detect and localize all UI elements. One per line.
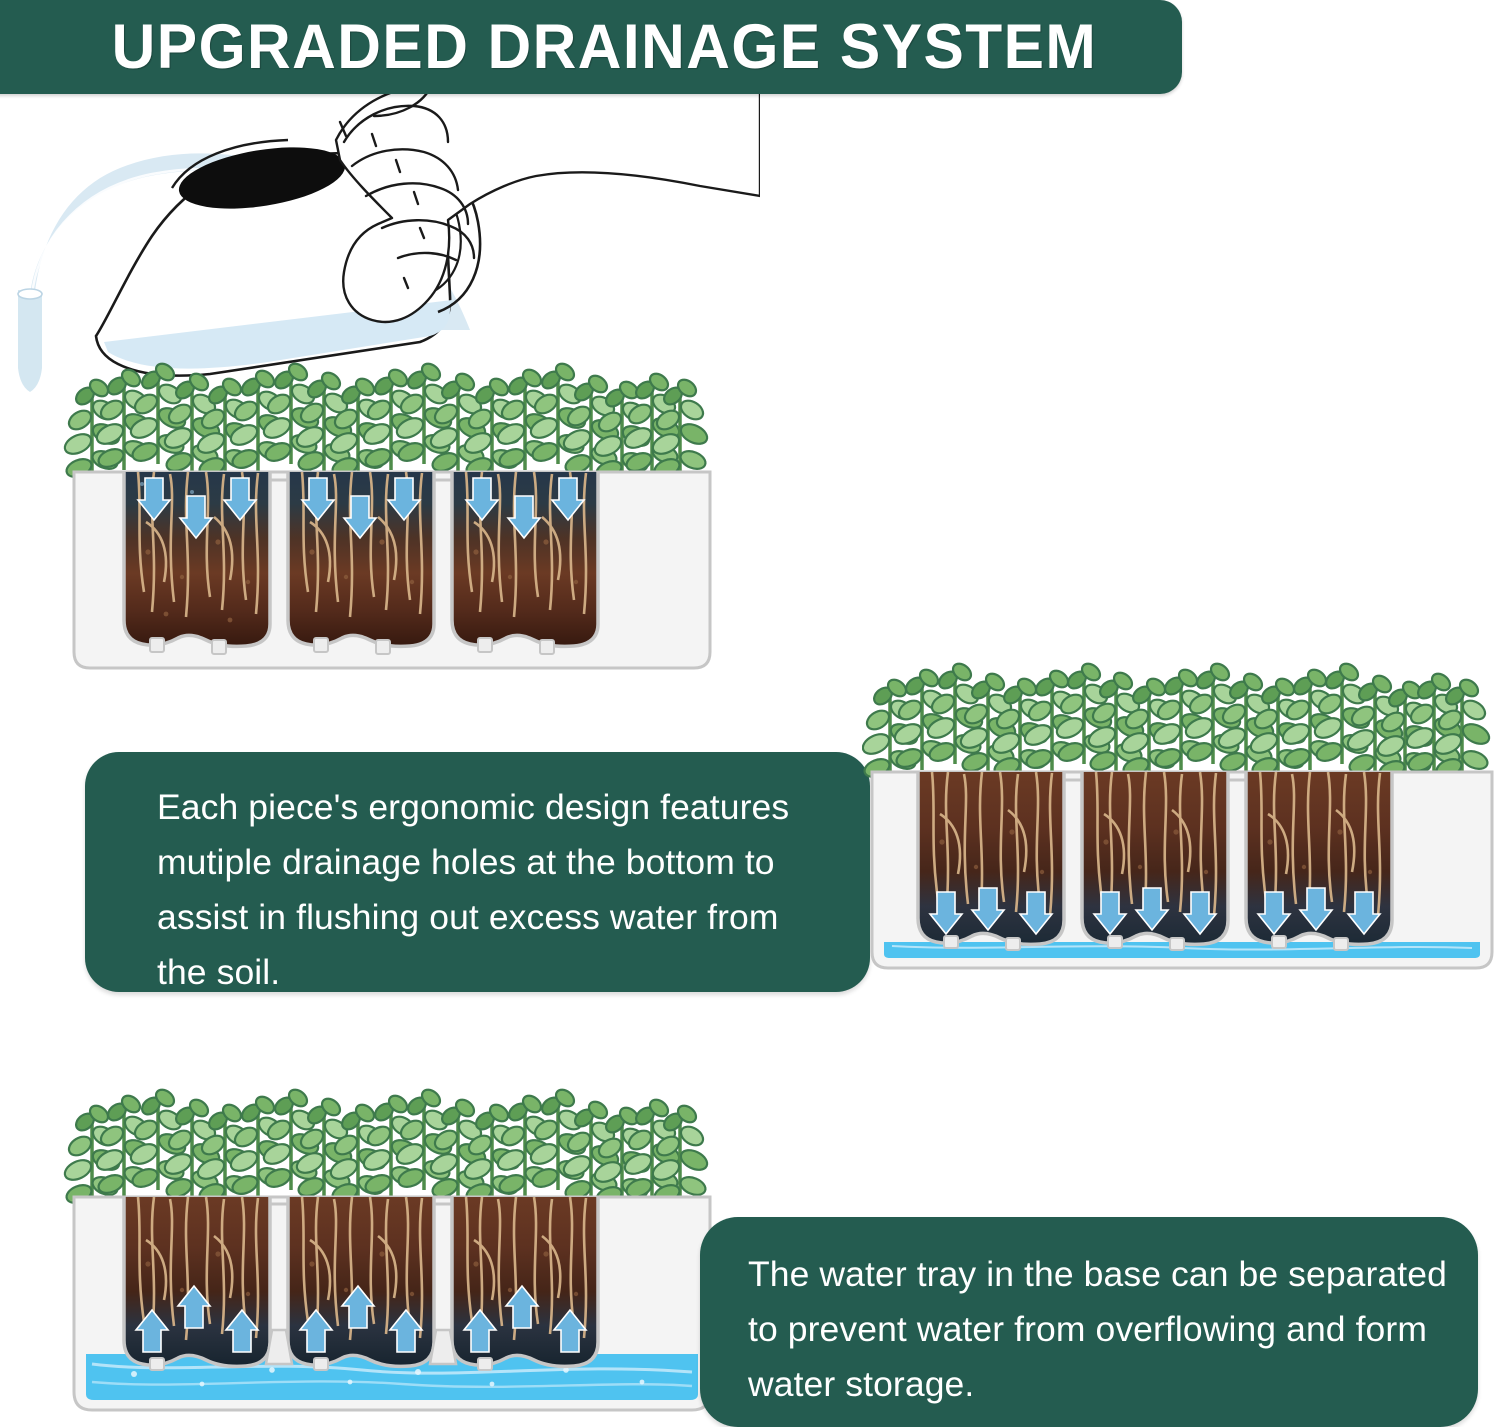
water-arrows-down xyxy=(930,888,1052,934)
water-arrows-down xyxy=(1094,888,1216,934)
plant-foliage xyxy=(62,360,710,482)
title-banner: UPGRADED DRAINAGE SYSTEM xyxy=(0,0,1182,94)
caption-water-tray-text: The water tray in the base can be separa… xyxy=(748,1247,1448,1412)
plant-foliage xyxy=(862,660,1492,782)
soil-cells xyxy=(124,472,598,646)
caption-drainage-holes: Each piece's ergonomic design features m… xyxy=(85,752,870,992)
illustration-planter-wicking-bottom xyxy=(62,1082,722,1427)
soil-cells xyxy=(918,772,1392,944)
soil-cells xyxy=(124,1197,598,1366)
page-title: UPGRADED DRAINAGE SYSTEM xyxy=(0,11,1097,83)
caption-drainage-holes-text: Each piece's ergonomic design features m… xyxy=(157,780,834,1000)
illustration-planter-draining-mid xyxy=(862,652,1500,997)
water-arrows-down xyxy=(1258,888,1380,934)
caption-water-tray: The water tray in the base can be separa… xyxy=(700,1217,1478,1427)
plant-foliage xyxy=(62,1086,710,1208)
illustration-planter-watering-top xyxy=(62,352,722,697)
